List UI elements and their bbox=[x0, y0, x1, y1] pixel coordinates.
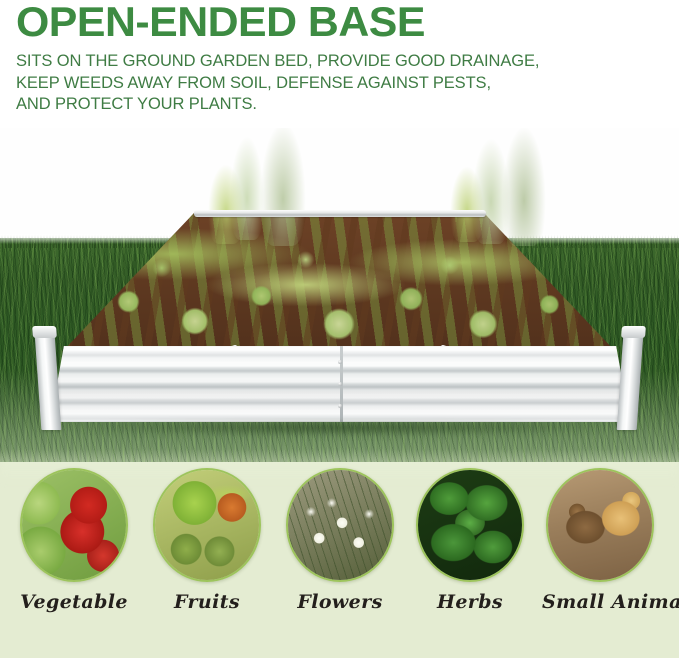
tall-herb-icon bbox=[208, 164, 244, 244]
tall-herb-icon bbox=[450, 166, 484, 242]
category-band: Vegetable Fruits Flowers Herbs bbox=[0, 462, 679, 658]
tall-herb-icon bbox=[502, 126, 546, 246]
subtitle-line-1: SITS ON THE GROUND GARDEN BED, PROVIDE G… bbox=[16, 51, 665, 73]
fruits-photo-icon bbox=[153, 468, 261, 582]
subtitle-line-2: KEEP WEEDS AWAY FROM SOIL, DEFENSE AGAIN… bbox=[16, 73, 665, 95]
tall-herb-icon bbox=[260, 126, 306, 246]
rivet-icon bbox=[338, 404, 342, 408]
page-title: OPEN-ENDED BASE bbox=[16, 2, 678, 42]
category-label: Flowers bbox=[282, 591, 398, 613]
product-feature-panel: OPEN-ENDED BASE SITS ON THE GROUND GARDE… bbox=[0, 0, 679, 658]
rivet-icon bbox=[338, 382, 342, 386]
herbs-photo-icon bbox=[416, 468, 524, 582]
flowers-photo-icon bbox=[286, 468, 394, 582]
category-item-flowers[interactable]: Flowers bbox=[282, 468, 398, 613]
subtitle-block: SITS ON THE GROUND GARDEN BED, PROVIDE G… bbox=[16, 51, 665, 116]
header: OPEN-ENDED BASE SITS ON THE GROUND GARDE… bbox=[0, 0, 679, 128]
small-animals-photo-icon bbox=[546, 468, 654, 582]
subtitle-line-3: AND PROTECT YOUR PLANTS. bbox=[16, 94, 665, 116]
corner-post-left bbox=[35, 334, 62, 430]
category-item-herbs[interactable]: Herbs bbox=[412, 468, 528, 613]
category-item-fruits[interactable]: Fruits bbox=[149, 468, 265, 613]
small-animals-art bbox=[548, 470, 652, 580]
herbs-art bbox=[418, 470, 522, 580]
vegetable-photo-icon bbox=[20, 468, 128, 582]
raised-garden-bed bbox=[22, 204, 656, 442]
category-label: Vegetable bbox=[16, 591, 132, 613]
bed-rail-back bbox=[194, 210, 486, 217]
category-label: Small Animals bbox=[542, 591, 658, 613]
post-cap bbox=[32, 326, 57, 338]
category-label: Fruits bbox=[149, 591, 265, 613]
corrugated-front-panel bbox=[50, 346, 630, 422]
category-item-vegetable[interactable]: Vegetable bbox=[16, 468, 132, 613]
hero-image bbox=[0, 126, 679, 471]
post-cap bbox=[621, 326, 646, 338]
vegetable-art bbox=[22, 470, 126, 580]
flowers-art bbox=[288, 470, 392, 580]
category-item-small-animals[interactable]: Small Animals bbox=[542, 468, 658, 613]
fruits-art bbox=[155, 470, 259, 580]
rivet-icon bbox=[338, 360, 342, 364]
corner-post-right bbox=[617, 334, 644, 430]
category-list: Vegetable Fruits Flowers Herbs bbox=[0, 462, 679, 658]
bed-ground-shadow bbox=[66, 422, 614, 436]
category-label: Herbs bbox=[412, 591, 528, 613]
